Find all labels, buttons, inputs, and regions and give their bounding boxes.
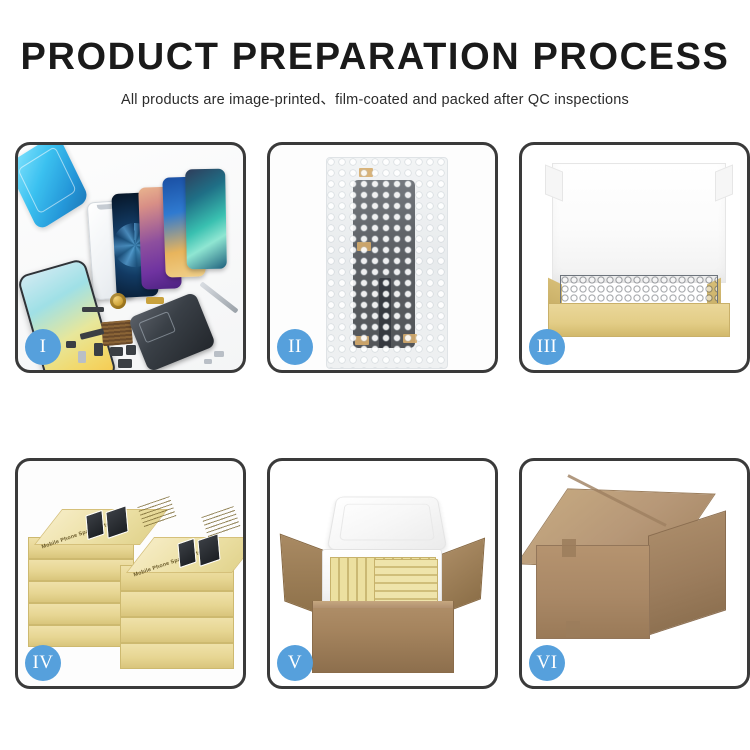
spare-part-icon	[118, 359, 132, 368]
spare-part-icon	[82, 307, 104, 312]
step-badge-4: IV	[25, 645, 61, 681]
retail-box-edge	[120, 643, 234, 669]
spare-part-icon	[146, 297, 164, 304]
header: PRODUCT PREPARATION PROCESS All products…	[0, 0, 750, 109]
speaker-coil-icon	[110, 293, 126, 309]
box-spec-lines	[201, 506, 240, 538]
white-box-lid-icon	[552, 163, 726, 283]
adhesive-film-icon	[18, 145, 90, 231]
spare-part-icon	[66, 341, 76, 348]
retail-box-edge	[28, 625, 134, 647]
spare-part-icon	[110, 347, 123, 356]
spare-part-icon	[78, 351, 86, 363]
bubble-wrap-bag-icon	[326, 157, 448, 369]
retail-box-edge	[120, 617, 234, 643]
step-badge-2: II	[277, 329, 313, 365]
packed-boxes-icon	[374, 559, 438, 603]
process-step-1[interactable]: I	[15, 142, 246, 373]
phone-midframe-icon	[128, 292, 216, 370]
carton-flap-tab	[566, 621, 580, 637]
kraft-box-front	[548, 303, 730, 337]
retail-box-edge	[120, 591, 234, 617]
step-badge-1: I	[25, 329, 61, 365]
tweezers-icon	[199, 281, 238, 313]
process-step-6[interactable]: VI	[519, 458, 750, 689]
logic-board-icon	[101, 320, 133, 347]
retail-box-edge	[28, 603, 134, 625]
retail-box-edge	[28, 581, 134, 603]
process-step-5[interactable]: V	[267, 458, 498, 689]
page-subtitle: All products are image-printed、film-coat…	[0, 88, 750, 109]
spare-part-icon	[126, 345, 136, 355]
step-badge-5: V	[277, 645, 313, 681]
page-title: PRODUCT PREPARATION PROCESS	[0, 38, 750, 78]
step-badge-3: III	[529, 329, 565, 365]
phone-screen-teal-icon	[185, 169, 227, 270]
process-step-3[interactable]: III	[519, 142, 750, 373]
spare-part-icon	[94, 343, 103, 356]
carton-flap-tab	[562, 539, 576, 557]
retail-box-edge	[28, 559, 134, 581]
foam-lid-icon	[327, 497, 448, 550]
step-badge-6: VI	[529, 645, 565, 681]
process-step-2[interactable]: II	[267, 142, 498, 373]
box-spec-lines	[137, 496, 176, 528]
bubble-texture	[327, 158, 447, 368]
outer-carton-body	[312, 601, 454, 673]
screw-icon	[204, 359, 212, 364]
process-step-grid: I II III	[15, 142, 735, 689]
carton-front-face	[536, 545, 650, 639]
product-preparation-infographic: { "header": { "title": "PRODUCT PREPARAT…	[0, 0, 750, 750]
process-step-4[interactable]: Mobile Phone Spare Parts Mobile Phone Sp…	[15, 458, 246, 689]
screw-icon	[214, 351, 224, 357]
